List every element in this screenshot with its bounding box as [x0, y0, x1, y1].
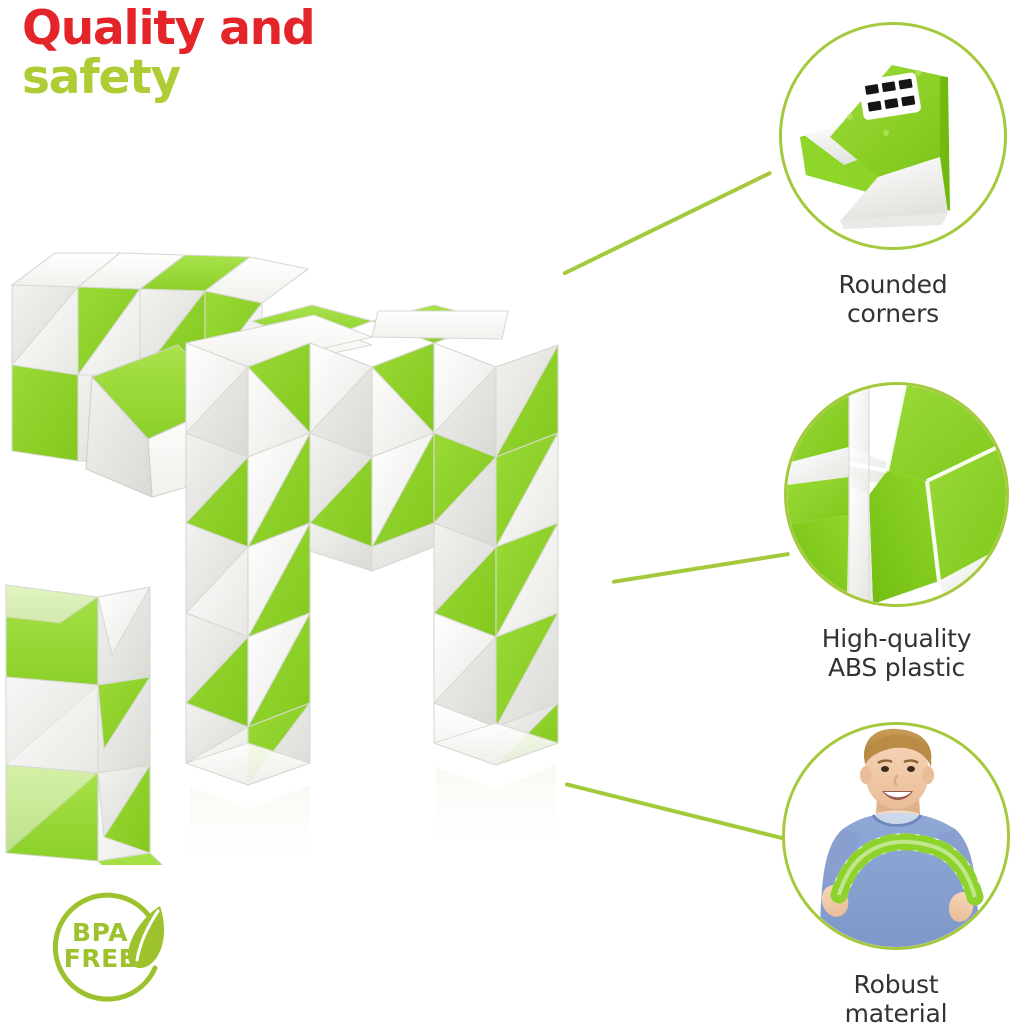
callout-caption-2: High-quality ABS plastic [784, 624, 1009, 682]
callout-caption-3: Robust material [782, 970, 1010, 1028]
connector-line-rounded-corners [562, 171, 772, 276]
callout-circle-3 [782, 722, 1010, 950]
bpa-free-badge: BPA FREE [48, 890, 178, 1020]
bpa-line-2: FREE [48, 946, 152, 972]
product-infographic: Quality and safety [0, 0, 1024, 1035]
callout-circle-1 [779, 22, 1007, 250]
headline-line-1: Quality and [22, 6, 314, 51]
caption-line-2: corners [779, 299, 1007, 328]
caption-line-1: Rounded [779, 270, 1007, 299]
caption-line-2: ABS plastic [784, 653, 1009, 682]
abs-plastic-closeup-image [787, 385, 1006, 604]
product-image [0, 225, 600, 865]
caption-line-1: High-quality [784, 624, 1009, 653]
callout-abs-plastic[interactable]: High-quality ABS plastic [784, 382, 1009, 682]
page-title: Quality and safety [22, 6, 314, 100]
caption-line-2: material [782, 999, 1010, 1028]
rounded-corner-piece-image [782, 25, 1004, 247]
caption-line-1: Robust [782, 970, 1010, 999]
connector-line-abs-plastic [612, 552, 790, 584]
bpa-line-1: BPA [48, 920, 152, 946]
headline-line-2: safety [22, 55, 314, 100]
callout-rounded-corners[interactable]: Rounded corners [779, 22, 1007, 340]
callout-robust-material[interactable]: Robust material [782, 722, 1010, 1035]
bpa-free-text: BPA FREE [48, 920, 152, 972]
callout-caption-1: Rounded corners [779, 270, 1007, 328]
snake-puzzle-graphic [0, 225, 600, 865]
boy-with-puzzle-photo [785, 725, 1007, 947]
callout-circle-2 [784, 382, 1009, 607]
